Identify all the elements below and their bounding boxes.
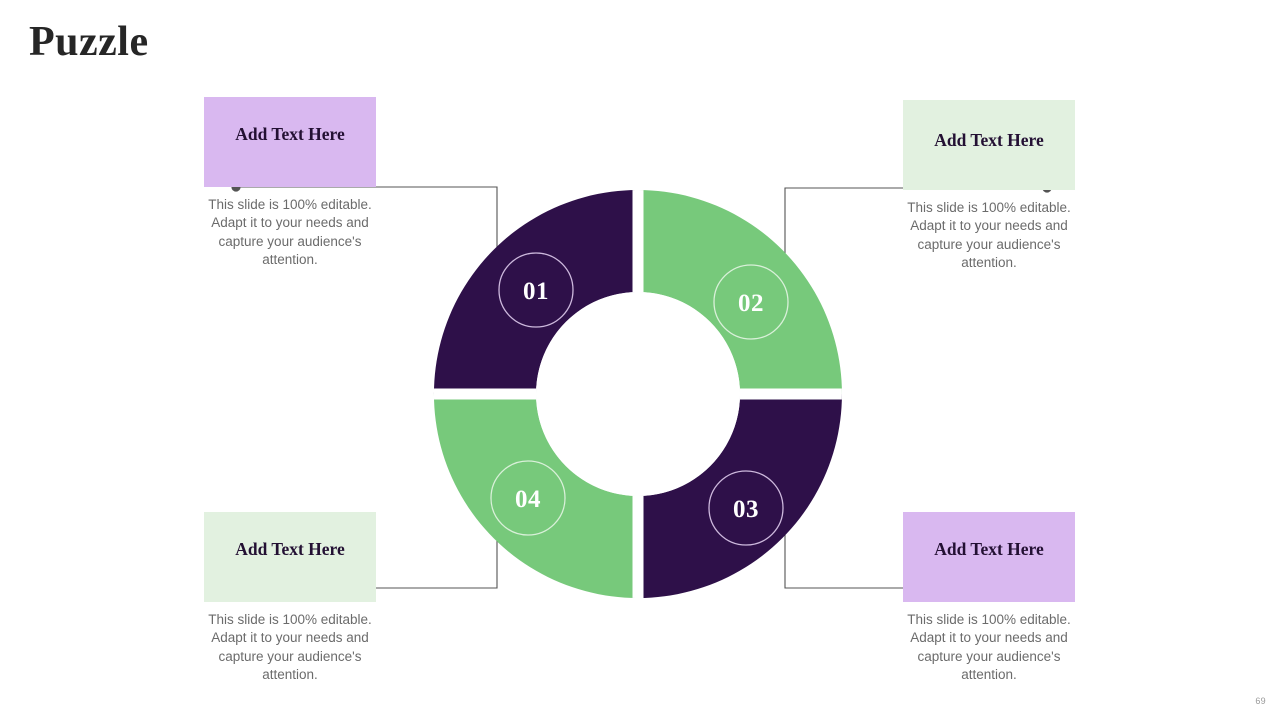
callout-bottom-left[interactable]: Add Text Here This slide is 100% editabl…: [204, 512, 376, 684]
callout-bottom-right-heading: Add Text Here: [934, 538, 1044, 560]
callout-top-left-box[interactable]: Add Text Here: [204, 97, 376, 187]
callout-top-right-heading: Add Text Here: [934, 129, 1044, 151]
callout-top-left-heading: Add Text Here: [235, 123, 345, 145]
callout-top-left[interactable]: Add Text Here This slide is 100% editabl…: [204, 97, 376, 269]
callout-top-right[interactable]: Add Text Here This slide is 100% editabl…: [903, 100, 1075, 272]
callout-bottom-left-heading: Add Text Here: [235, 538, 345, 560]
page-number: 69: [1255, 696, 1266, 706]
callout-top-left-body: This slide is 100% editable. Adapt it to…: [204, 187, 376, 269]
callout-bottom-right-body: This slide is 100% editable. Adapt it to…: [903, 602, 1075, 684]
callout-top-right-box[interactable]: Add Text Here: [903, 100, 1075, 190]
callout-bottom-left-box[interactable]: Add Text Here: [204, 512, 376, 602]
slide-canvas: Puzzle: [0, 0, 1280, 720]
page-title: Puzzle: [29, 16, 149, 68]
callout-bottom-left-body: This slide is 100% editable. Adapt it to…: [204, 602, 376, 684]
callout-bottom-right[interactable]: Add Text Here This slide is 100% editabl…: [903, 512, 1075, 684]
badge-03-label: 03: [733, 496, 759, 523]
callout-bottom-right-box[interactable]: Add Text Here: [903, 512, 1075, 602]
circular-puzzle-diagram: 01 02 03 04: [424, 180, 852, 608]
callout-top-right-body: This slide is 100% editable. Adapt it to…: [903, 190, 1075, 272]
badge-01-label: 01: [523, 278, 549, 305]
badge-04-label: 04: [515, 486, 541, 513]
badge-02-label: 02: [738, 290, 764, 317]
